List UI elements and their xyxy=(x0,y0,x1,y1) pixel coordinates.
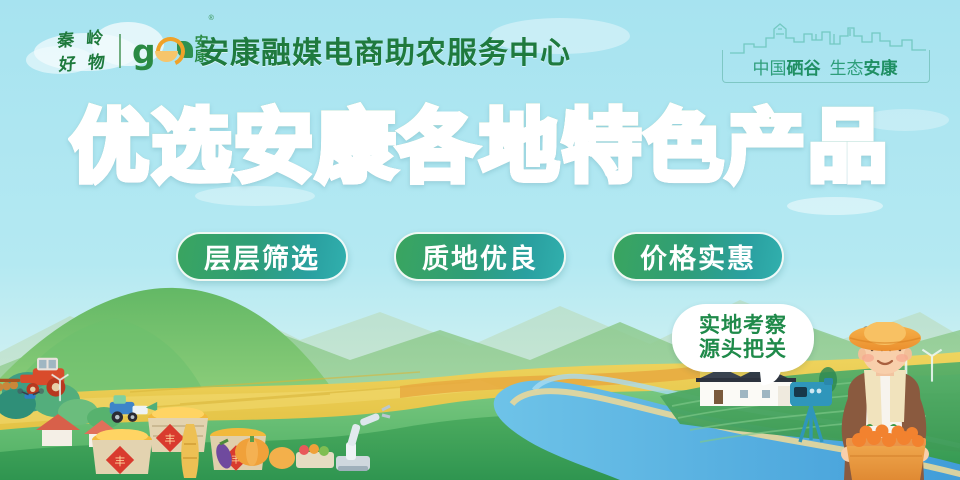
slogan-part-2: 生态安康 xyxy=(830,54,898,79)
speech-bubble: 实地考察 源头把关 xyxy=(672,304,814,372)
feature-pill-1[interactable]: 层层筛选 xyxy=(176,232,348,281)
banner-header: 秦 岭 好 物 g 安 康 ® 安康融媒电商助农服务中心 xyxy=(0,22,960,82)
page-title: 优选安康各地特色产品 xyxy=(0,108,960,187)
speech-bubble-line-2: 源头把关 xyxy=(699,338,787,362)
farmer-icon xyxy=(828,322,952,480)
speech-bubble-line-1: 实地考察 xyxy=(699,314,787,338)
feature-pill-list: 层层筛选 质地优良 价格实惠 xyxy=(0,232,960,281)
city-skyline-icon xyxy=(730,20,926,54)
slogan-part-1: 中国硒谷 xyxy=(753,54,821,79)
feature-pill-2[interactable]: 质地优良 xyxy=(394,232,566,281)
slogan-block: 中国硒谷 生态安康 xyxy=(722,22,930,84)
organization-title: 安康融媒电商助农服务中心 xyxy=(199,28,571,72)
qinling-logo-icon: 秦 岭 好 物 xyxy=(50,25,111,77)
feature-pill-3[interactable]: 价格实惠 xyxy=(612,232,784,281)
slogan-text: 中国硒谷 生态安康 xyxy=(722,50,928,82)
qinling-char-1: 秦 xyxy=(57,31,75,49)
qinling-char-3: 好 xyxy=(58,55,76,73)
go-letter-o-hand-icon xyxy=(154,36,180,66)
qinling-char-2: 岭 xyxy=(86,29,104,47)
go-letter-g: g xyxy=(132,35,156,68)
brand-logo-block[interactable]: 秦 岭 好 物 g 安 康 ® xyxy=(52,22,214,80)
vertical-divider-icon xyxy=(119,34,121,68)
trademark-symbol: ® xyxy=(209,15,214,22)
qinling-char-4: 物 xyxy=(87,53,105,71)
svg-text:丰: 丰 xyxy=(115,455,126,468)
headline-text: 优选安康各地特色产品 xyxy=(70,101,890,193)
wheat-bundle-icon xyxy=(181,424,199,478)
promotional-banner: 丰 丰 丰 xyxy=(0,0,960,480)
svg-text:丰: 丰 xyxy=(165,433,176,446)
